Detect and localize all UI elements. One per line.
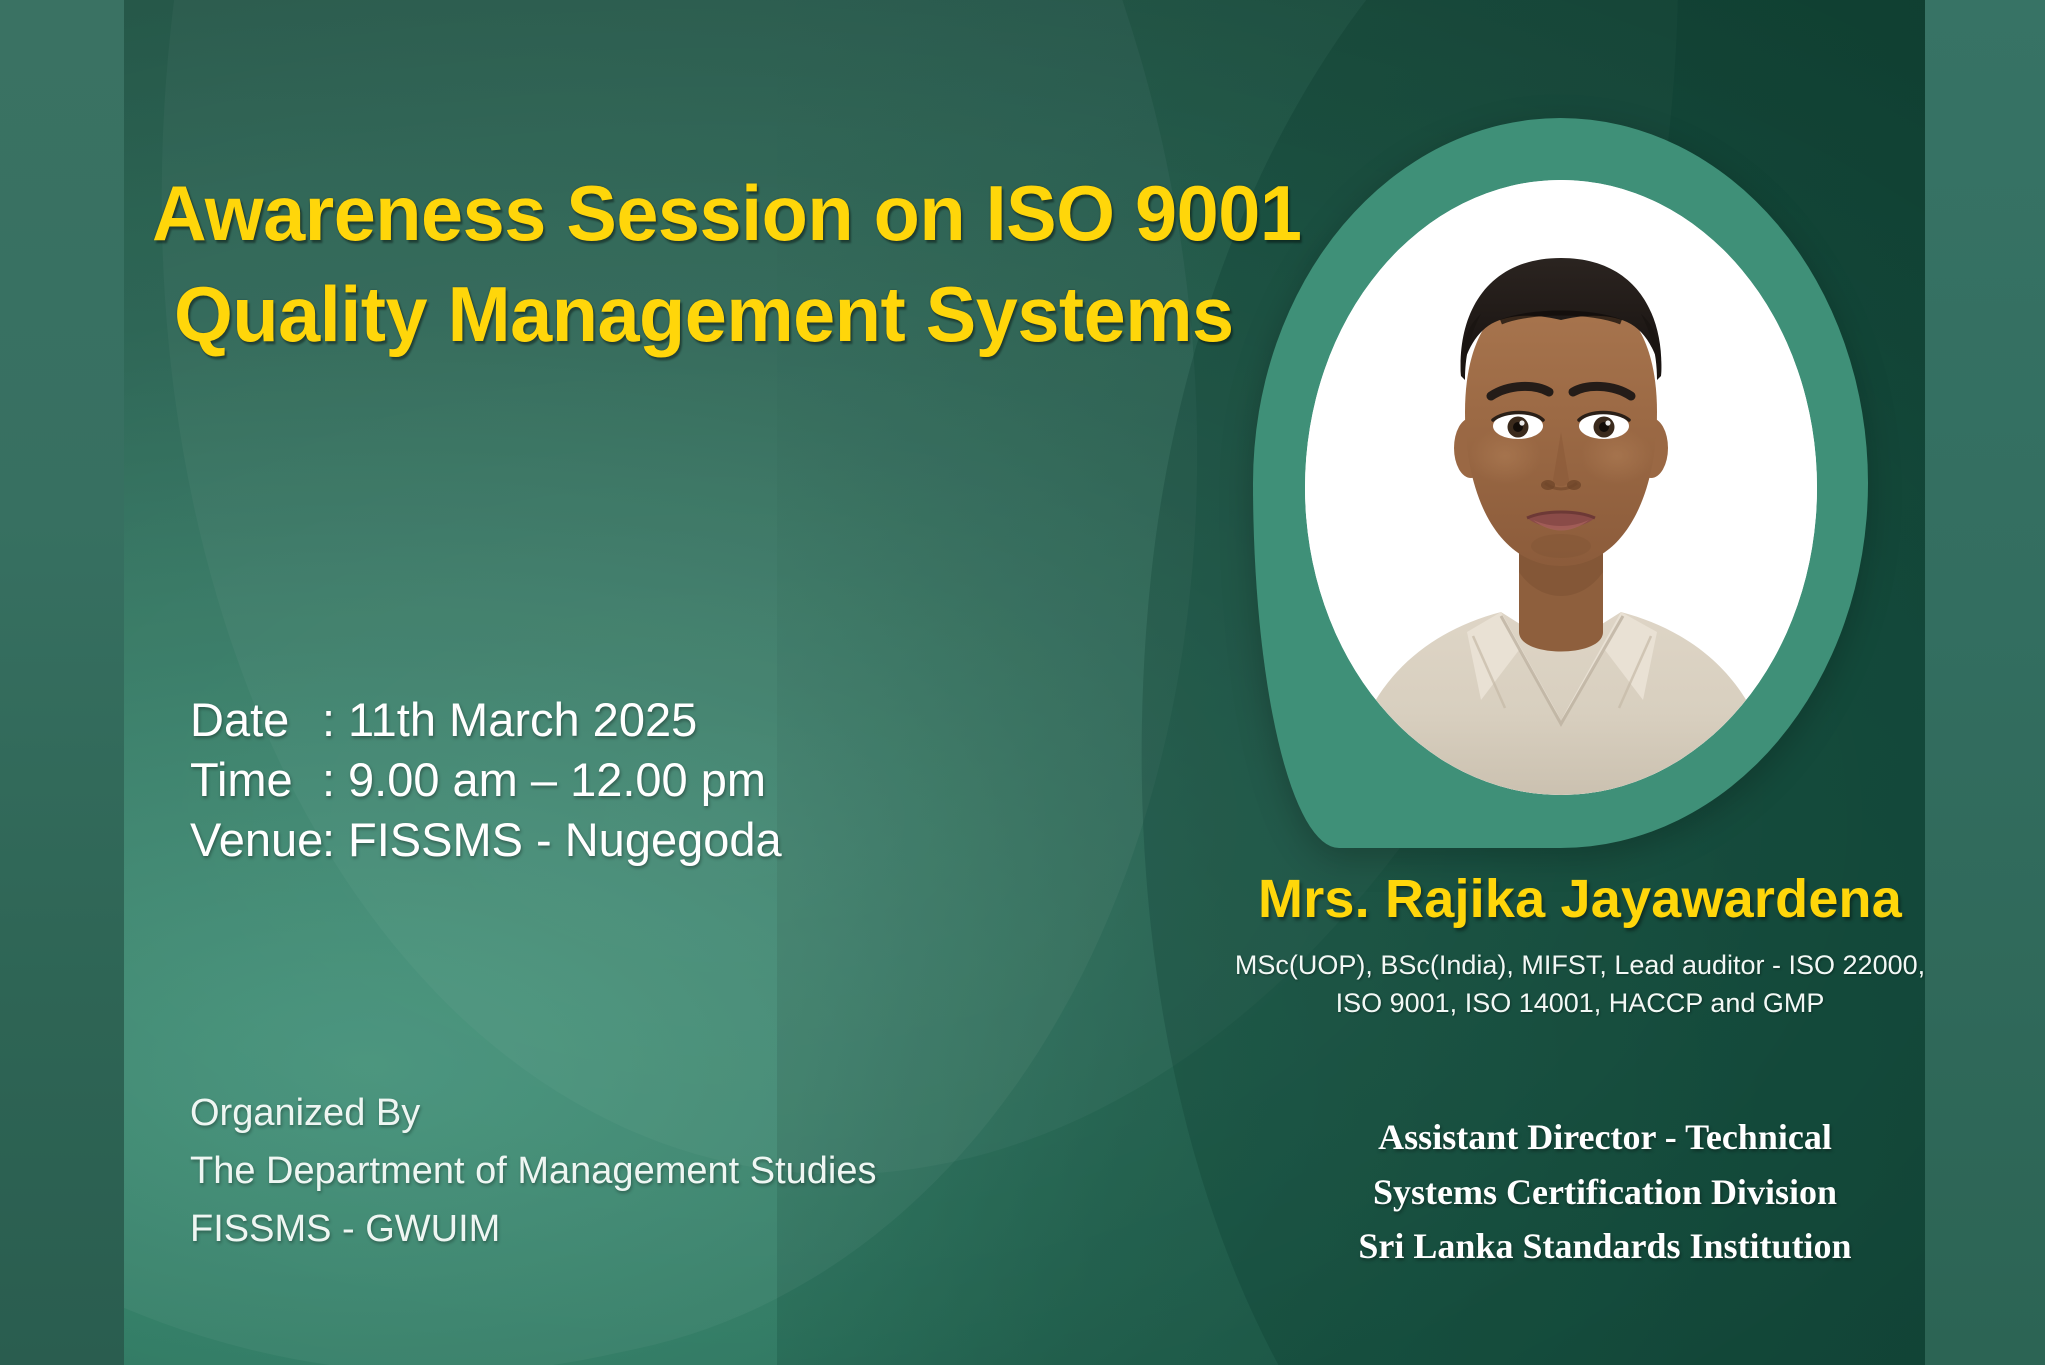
speaker-info: Mrs. Rajika Jayawardena MSc(UOP), BSc(In… [1200, 868, 1960, 1023]
speaker-name: Mrs. Rajika Jayawardena [1200, 868, 1960, 930]
portrait-oval-frame [1305, 180, 1817, 795]
detail-label-time: Time [190, 750, 322, 810]
detail-value-date: 11th March 2025 [348, 690, 697, 750]
designation-line-2: Systems Certification Division [1255, 1165, 1955, 1220]
left-edge-band [0, 0, 124, 1365]
detail-row-date: Date : 11th March 2025 [190, 690, 782, 750]
organizer-institute: FISSMS - GWUIM [190, 1201, 877, 1259]
designation-line-1: Assistant Director - Technical [1255, 1110, 1955, 1165]
event-poster: Awareness Session on ISO 9001 Quality Ma… [0, 0, 2045, 1365]
speaker-credentials-line-2: ISO 9001, ISO 14001, HACCP and GMP [1200, 984, 1960, 1022]
detail-value-venue: FISSMS - Nugegoda [348, 810, 782, 870]
speaker-credentials-line-1: MSc(UOP), BSc(India), MIFST, Lead audito… [1200, 946, 1960, 984]
speaker-credentials: MSc(UOP), BSc(India), MIFST, Lead audito… [1200, 946, 1960, 1023]
detail-value-time: 9.00 am – 12.00 pm [348, 750, 766, 810]
organizer-heading: Organized By [190, 1085, 877, 1143]
designation-line-3: Sri Lanka Standards Institution [1255, 1219, 1955, 1274]
poster-title: Awareness Session on ISO 9001 Quality Ma… [152, 163, 1272, 366]
detail-row-venue: Venue : FISSMS - Nugegoda [190, 810, 782, 870]
detail-label-venue: Venue [190, 810, 322, 870]
title-line-1: Awareness Session on ISO 9001 [152, 163, 1238, 264]
speaker-photo-image [1305, 180, 1817, 795]
event-details: Date : 11th March 2025 Time : 9.00 am – … [190, 690, 782, 870]
detail-label-date: Date [190, 690, 322, 750]
organizer-block: Organized By The Department of Managemen… [190, 1085, 877, 1258]
organizer-department: The Department of Management Studies [190, 1143, 877, 1201]
detail-row-time: Time : 9.00 am – 12.00 pm [190, 750, 782, 810]
title-line-2: Quality Management Systems [174, 264, 1239, 365]
speaker-portrait [1253, 118, 1868, 848]
detail-colon-date: : [322, 690, 348, 750]
detail-colon-time: : [322, 750, 348, 810]
speaker-designation: Assistant Director - Technical Systems C… [1255, 1110, 1955, 1274]
detail-colon-venue: : [322, 810, 348, 870]
